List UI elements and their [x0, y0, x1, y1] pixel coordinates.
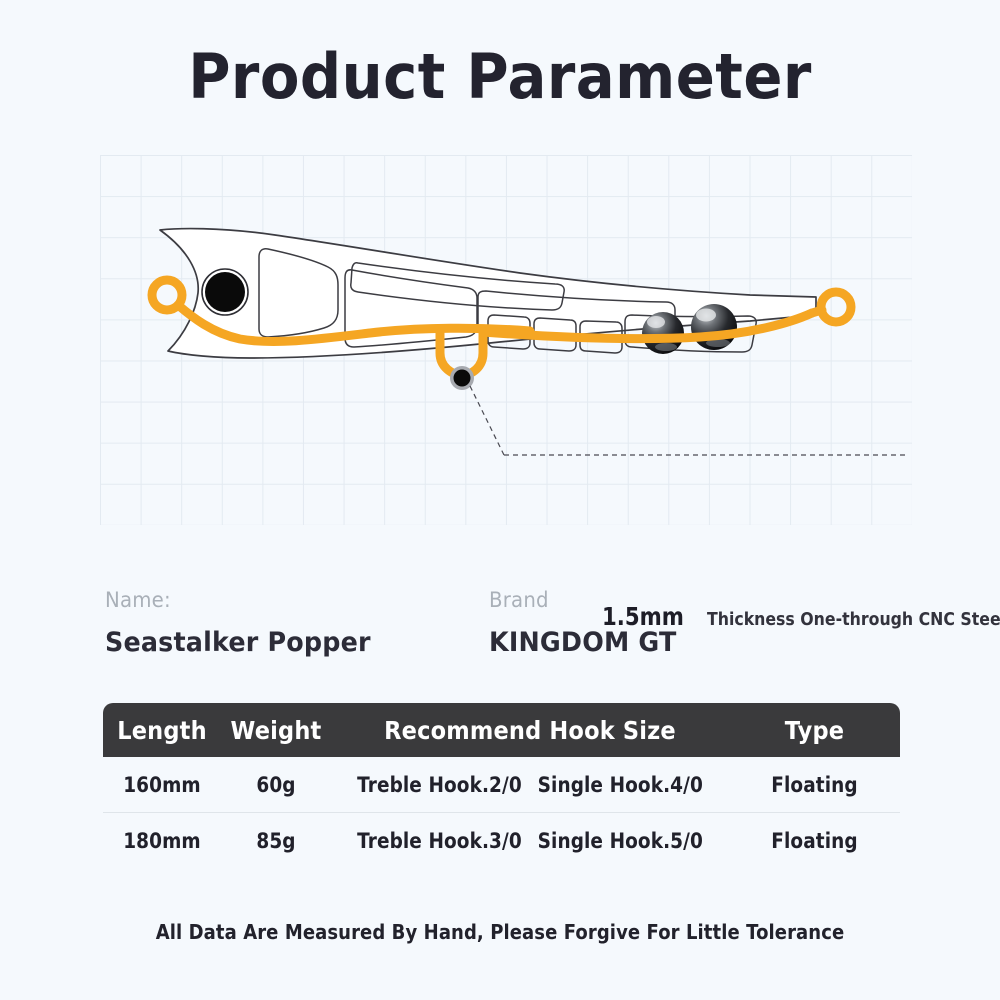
- footer-note: All Data Are Measured By Hand, Please Fo…: [50, 920, 950, 944]
- name-label: Name:: [105, 588, 371, 612]
- cell-type: Floating: [739, 829, 889, 853]
- column-header-type: Type: [738, 716, 892, 745]
- cell-treble-hook: Treble Hook.3/0: [357, 829, 522, 853]
- lure-eye: [202, 269, 248, 315]
- brand-label: Brand: [489, 588, 677, 612]
- cell-hook-size: Treble Hook.3/0 Single Hook.5/0: [355, 829, 705, 853]
- table-row: 180mm 85g Treble Hook.3/0 Single Hook.5/…: [103, 812, 900, 868]
- product-brand-group: Brand KINGDOM GT: [489, 588, 688, 658]
- brand-value: KINGDOM GT: [489, 627, 677, 658]
- lure-diagram-panel: 1.5mm Thickness One-through CNC Steel Wi…: [100, 155, 912, 525]
- lure-diagram-svg: [100, 155, 912, 525]
- column-header-hook-size: Recommend Hook Size: [351, 716, 709, 745]
- cell-single-hook: Single Hook.4/0: [538, 773, 703, 797]
- product-meta: Name: Seastalker Popper Brand KINGDOM GT: [105, 588, 905, 678]
- spec-table: Length Weight Recommend Hook Size Type 1…: [103, 703, 900, 868]
- cell-hook-size: Treble Hook.2/0 Single Hook.4/0: [355, 773, 705, 797]
- column-header-weight: Weight: [227, 716, 326, 745]
- cell-length: 160mm: [110, 773, 214, 797]
- column-header-length: Length: [109, 716, 215, 745]
- cell-length: 180mm: [110, 829, 214, 853]
- page-title: Product Parameter: [35, 40, 965, 113]
- cell-single-hook: Single Hook.5/0: [538, 829, 703, 853]
- table-header-row: Length Weight Recommend Hook Size Type: [103, 703, 900, 757]
- cell-treble-hook: Treble Hook.2/0: [357, 773, 522, 797]
- callout-leader-line: [470, 386, 906, 455]
- product-parameter-page: Product Parameter: [0, 0, 1000, 1000]
- cell-weight: 60g: [228, 773, 325, 797]
- product-name-group: Name: Seastalker Popper: [105, 588, 388, 658]
- cell-weight: 85g: [228, 829, 325, 853]
- name-value: Seastalker Popper: [105, 627, 371, 658]
- cell-type: Floating: [739, 773, 889, 797]
- table-row: 160mm 60g Treble Hook.2/0 Single Hook.4/…: [103, 757, 900, 812]
